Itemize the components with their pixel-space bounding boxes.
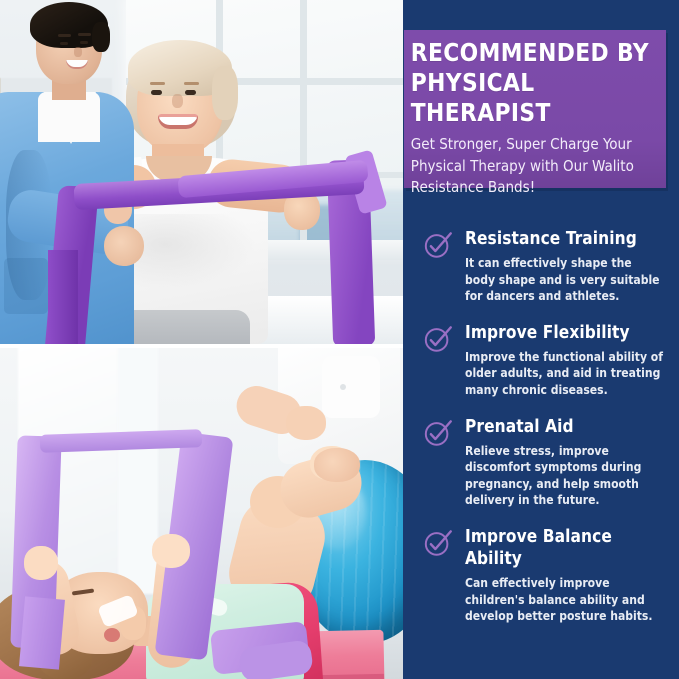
headline-card: RECOMMENDED BY PHYSICAL THERAPIST Get St… — [404, 30, 666, 188]
uniform-button — [340, 384, 346, 390]
therapist-hair-side — [92, 22, 110, 52]
check-circle-icon — [423, 324, 453, 354]
info-panel: RECOMMENDED BY PHYSICAL THERAPIST Get St… — [403, 0, 679, 679]
woman-eyebrow-right — [184, 82, 199, 85]
feature-list: Resistance Training It can effectively s… — [403, 228, 679, 642]
woman-eye-right — [185, 90, 196, 95]
feature-description: It can effectively shape the body shape … — [465, 250, 663, 305]
scene-clinic-window — [0, 0, 403, 344]
check-circle-icon — [423, 418, 453, 448]
therapist-eyebrow-left — [58, 34, 71, 37]
check-circle-icon — [423, 230, 453, 260]
therapist-hand-holding-foot — [286, 406, 326, 440]
woman-hair-side — [212, 66, 238, 120]
child-mouth — [104, 628, 120, 642]
feature-title: Resistance Training — [465, 228, 663, 250]
feature-description: Relieve stress, improve discomfort sympt… — [465, 438, 663, 509]
photo-child-exercising-on-ball — [0, 348, 403, 679]
feature-description: Improve the functional ability of older … — [465, 344, 663, 399]
feature-item-resistance-training: Resistance Training It can effectively s… — [403, 228, 679, 305]
therapist-eye-right — [80, 41, 88, 44]
woman-eyebrow-left — [150, 82, 165, 85]
therapist-scrubs-pocket — [4, 258, 48, 314]
headline: RECOMMENDED BY PHYSICAL THERAPIST — [404, 38, 658, 128]
subheadline: Get Stronger, Super Charge Your Physical… — [404, 128, 658, 199]
feature-title: Improve Balance Ability — [465, 526, 663, 570]
scene-therapy-room — [0, 348, 403, 679]
feature-title: Improve Flexibility — [465, 322, 663, 344]
child-hand-right — [152, 534, 190, 568]
feature-item-improve-balance-ability: Improve Balance Ability Can effectively … — [403, 526, 679, 625]
child-hand-left — [24, 546, 58, 580]
feature-item-prenatal-aid: Prenatal Aid Relieve stress, improve dis… — [403, 416, 679, 509]
headline-line-1: RECOMMENDED BY — [411, 38, 658, 68]
woman-smile — [158, 114, 198, 129]
woman-eye-left — [151, 90, 162, 95]
therapist-hand-lower — [104, 226, 144, 266]
photo-therapist-assisting-senior-woman — [0, 0, 403, 344]
resistance-band-left-tail-shadow — [48, 250, 78, 344]
woman-nose — [172, 94, 183, 108]
promo-image: RECOMMENDED BY PHYSICAL THERAPIST Get St… — [0, 0, 679, 679]
check-circle-icon — [423, 528, 453, 558]
feature-title: Prenatal Aid — [465, 416, 663, 438]
therapist-eye-left — [60, 42, 68, 45]
feature-item-improve-flexibility: Improve Flexibility Improve the function… — [403, 322, 679, 399]
therapist-sleeve — [322, 356, 380, 418]
therapist-nose — [74, 47, 82, 57]
therapist-eyebrow-right — [78, 33, 91, 36]
headline-line-2: PHYSICAL THERAPIST — [411, 68, 658, 128]
resistance-band-left-tail-lower — [19, 596, 65, 669]
feature-description: Can effectively improve children's balan… — [465, 570, 663, 625]
therapist-hand-supporting-leg — [314, 448, 360, 482]
